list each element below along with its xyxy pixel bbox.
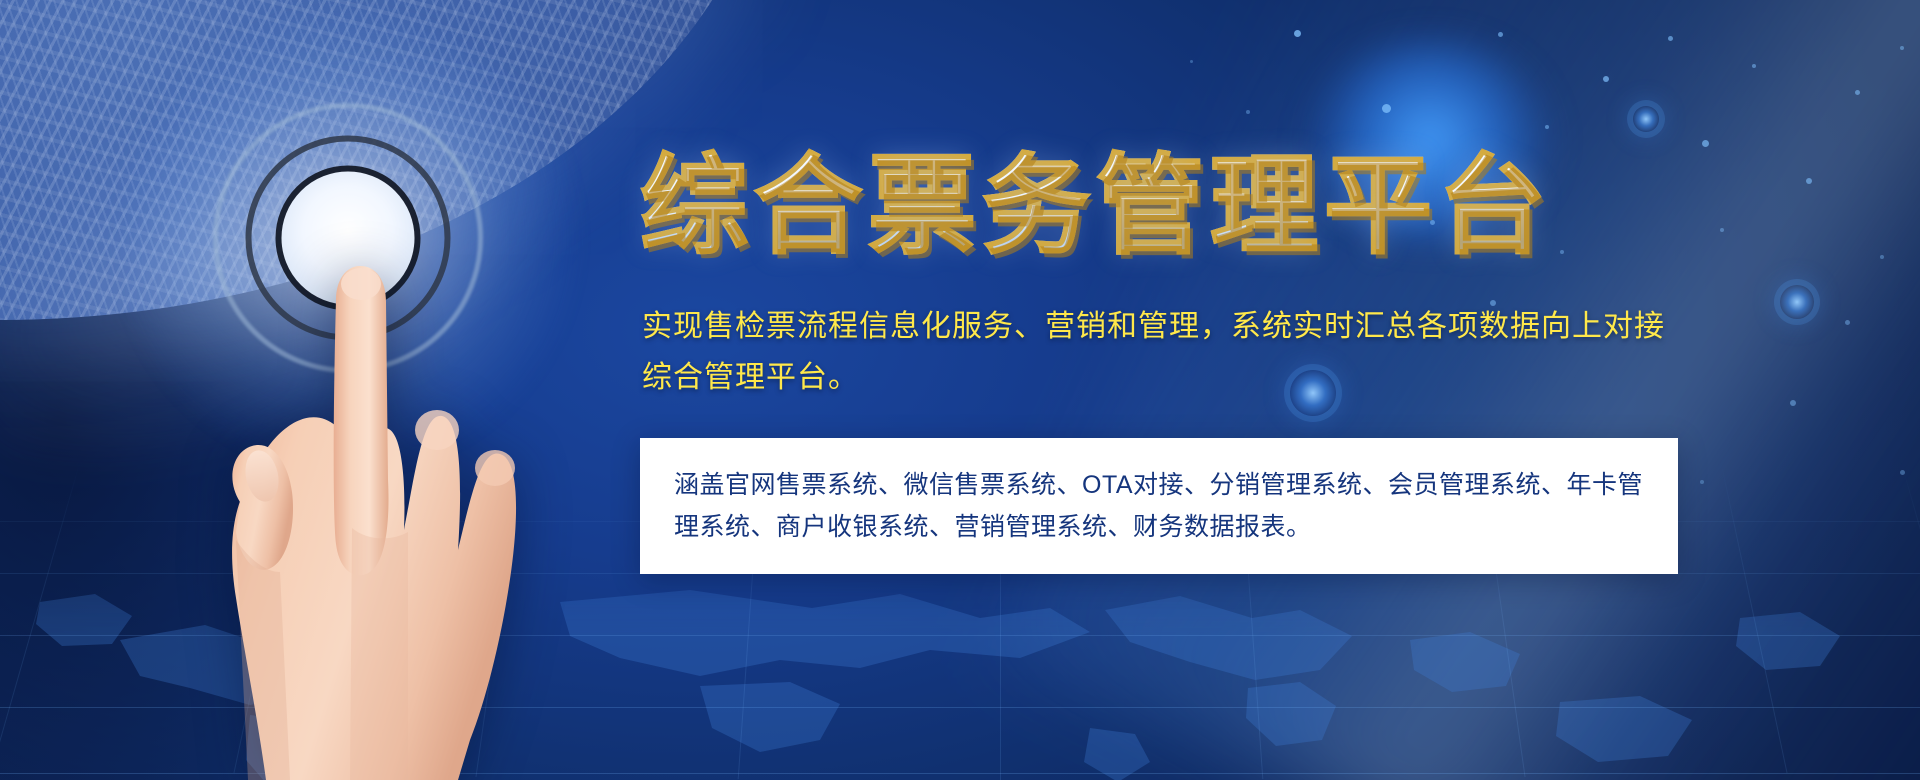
ticketing-platform-banner: 综合票务管理平台 实现售检票流程信息化服务、营销和管理，系统实时汇总各项数据向上… xyxy=(0,0,1920,780)
pointing-hand-graphic xyxy=(140,180,610,780)
banner-content: 综合票务管理平台 实现售检票流程信息化服务、营销和管理，系统实时汇总各项数据向上… xyxy=(640,150,1760,574)
page-title: 综合票务管理平台 xyxy=(640,150,1760,267)
feature-list-box: 涵盖官网售票系统、微信售票系统、OTA对接、分销管理系统、会员管理系统、年卡管理… xyxy=(640,438,1678,574)
banner-subtitle: 实现售检票流程信息化服务、营销和管理，系统实时汇总各项数据向上对接综合管理平台。 xyxy=(642,301,1692,404)
feature-list-text: 涵盖官网售票系统、微信售票系统、OTA对接、分销管理系统、会员管理系统、年卡管理… xyxy=(674,464,1648,548)
